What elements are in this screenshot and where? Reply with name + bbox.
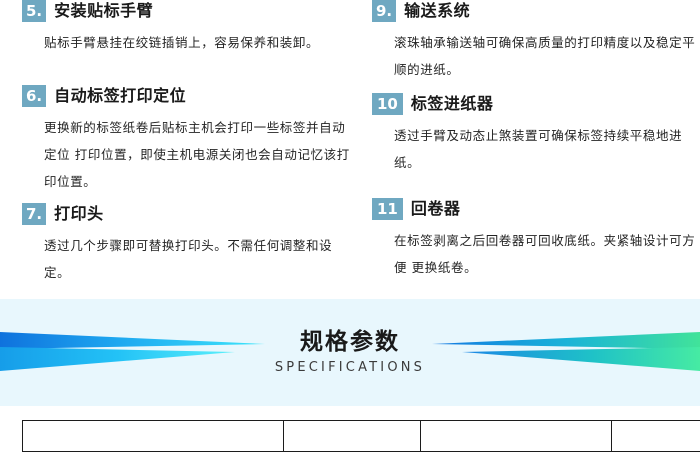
feature-description: 透过手臂及动态止煞装置可确保标签持续平稳地进纸。: [394, 122, 700, 176]
table-cell: [284, 421, 421, 452]
feature-heading: 6. 自动标签打印定位: [22, 85, 352, 109]
feature-description: 在标签剥离之后回卷器可回收底纸。夹紧轴设计可方便 更换纸卷。: [394, 227, 700, 281]
feature-heading: 5. 安装贴标手臂: [22, 0, 352, 24]
table-cell: [612, 421, 700, 452]
table-cell: [23, 421, 284, 452]
feature-heading: 10 标签进纸器: [372, 93, 700, 117]
feature-item-10: 10 标签进纸器 透过手臂及动态止煞装置可确保标签持续平稳地进纸。: [372, 93, 700, 176]
specifications-table: [22, 420, 700, 452]
table-cell: [421, 421, 612, 452]
feature-description: 贴标手臂悬挂在绞链插销上，容易保养和装卸。: [44, 29, 354, 56]
feature-title: 输送系统: [404, 0, 470, 22]
feature-item-5: 5. 安装贴标手臂 贴标手臂悬挂在绞链插销上，容易保养和装卸。: [22, 0, 352, 56]
feature-description: 透过几个步骤即可替换打印头。不需任何调整和设定。: [44, 232, 354, 286]
feature-description: 更换新的标签纸卷后贴标主机会打印一些标签并自动定位 打印位置，即使主机电源关闭也…: [44, 114, 354, 195]
feature-item-9: 9. 输送系统 滚珠轴承输送轴可确保高质量的打印精度以及稳定平顺的进纸。: [372, 0, 700, 83]
feature-number-badge: 11: [372, 198, 403, 220]
feature-title: 自动标签打印定位: [54, 85, 186, 107]
feature-number-badge: 5.: [22, 0, 46, 22]
banner-decorative-arrows: [0, 299, 700, 406]
feature-title: 安装贴标手臂: [54, 0, 153, 22]
feature-title: 打印头: [54, 203, 104, 225]
feature-title: 标签进纸器: [411, 93, 494, 115]
feature-description: 滚珠轴承输送轴可确保高质量的打印精度以及稳定平顺的进纸。: [394, 29, 700, 83]
feature-number-badge: 9.: [372, 0, 396, 22]
feature-item-6: 6. 自动标签打印定位 更换新的标签纸卷后贴标主机会打印一些标签并自动定位 打印…: [22, 85, 352, 195]
features-section: 5. 安装贴标手臂 贴标手臂悬挂在绞链插销上，容易保养和装卸。 6. 自动标签打…: [0, 0, 700, 299]
feature-heading: 11 回卷器: [372, 198, 700, 222]
feature-item-7: 7. 打印头 透过几个步骤即可替换打印头。不需任何调整和设定。: [22, 203, 352, 286]
feature-item-11: 11 回卷器 在标签剥离之后回卷器可回收底纸。夹紧轴设计可方便 更换纸卷。: [372, 198, 700, 281]
feature-heading: 7. 打印头: [22, 203, 352, 227]
feature-heading: 9. 输送系统: [372, 0, 700, 24]
feature-number-badge: 6.: [22, 85, 46, 107]
feature-title: 回卷器: [411, 198, 461, 220]
specifications-table-area: [0, 406, 700, 434]
specifications-banner: 规格参数 SPECIFICATIONS: [0, 299, 700, 406]
feature-number-badge: 10: [372, 93, 403, 115]
feature-number-badge: 7.: [22, 203, 46, 225]
table-row: [23, 421, 700, 452]
